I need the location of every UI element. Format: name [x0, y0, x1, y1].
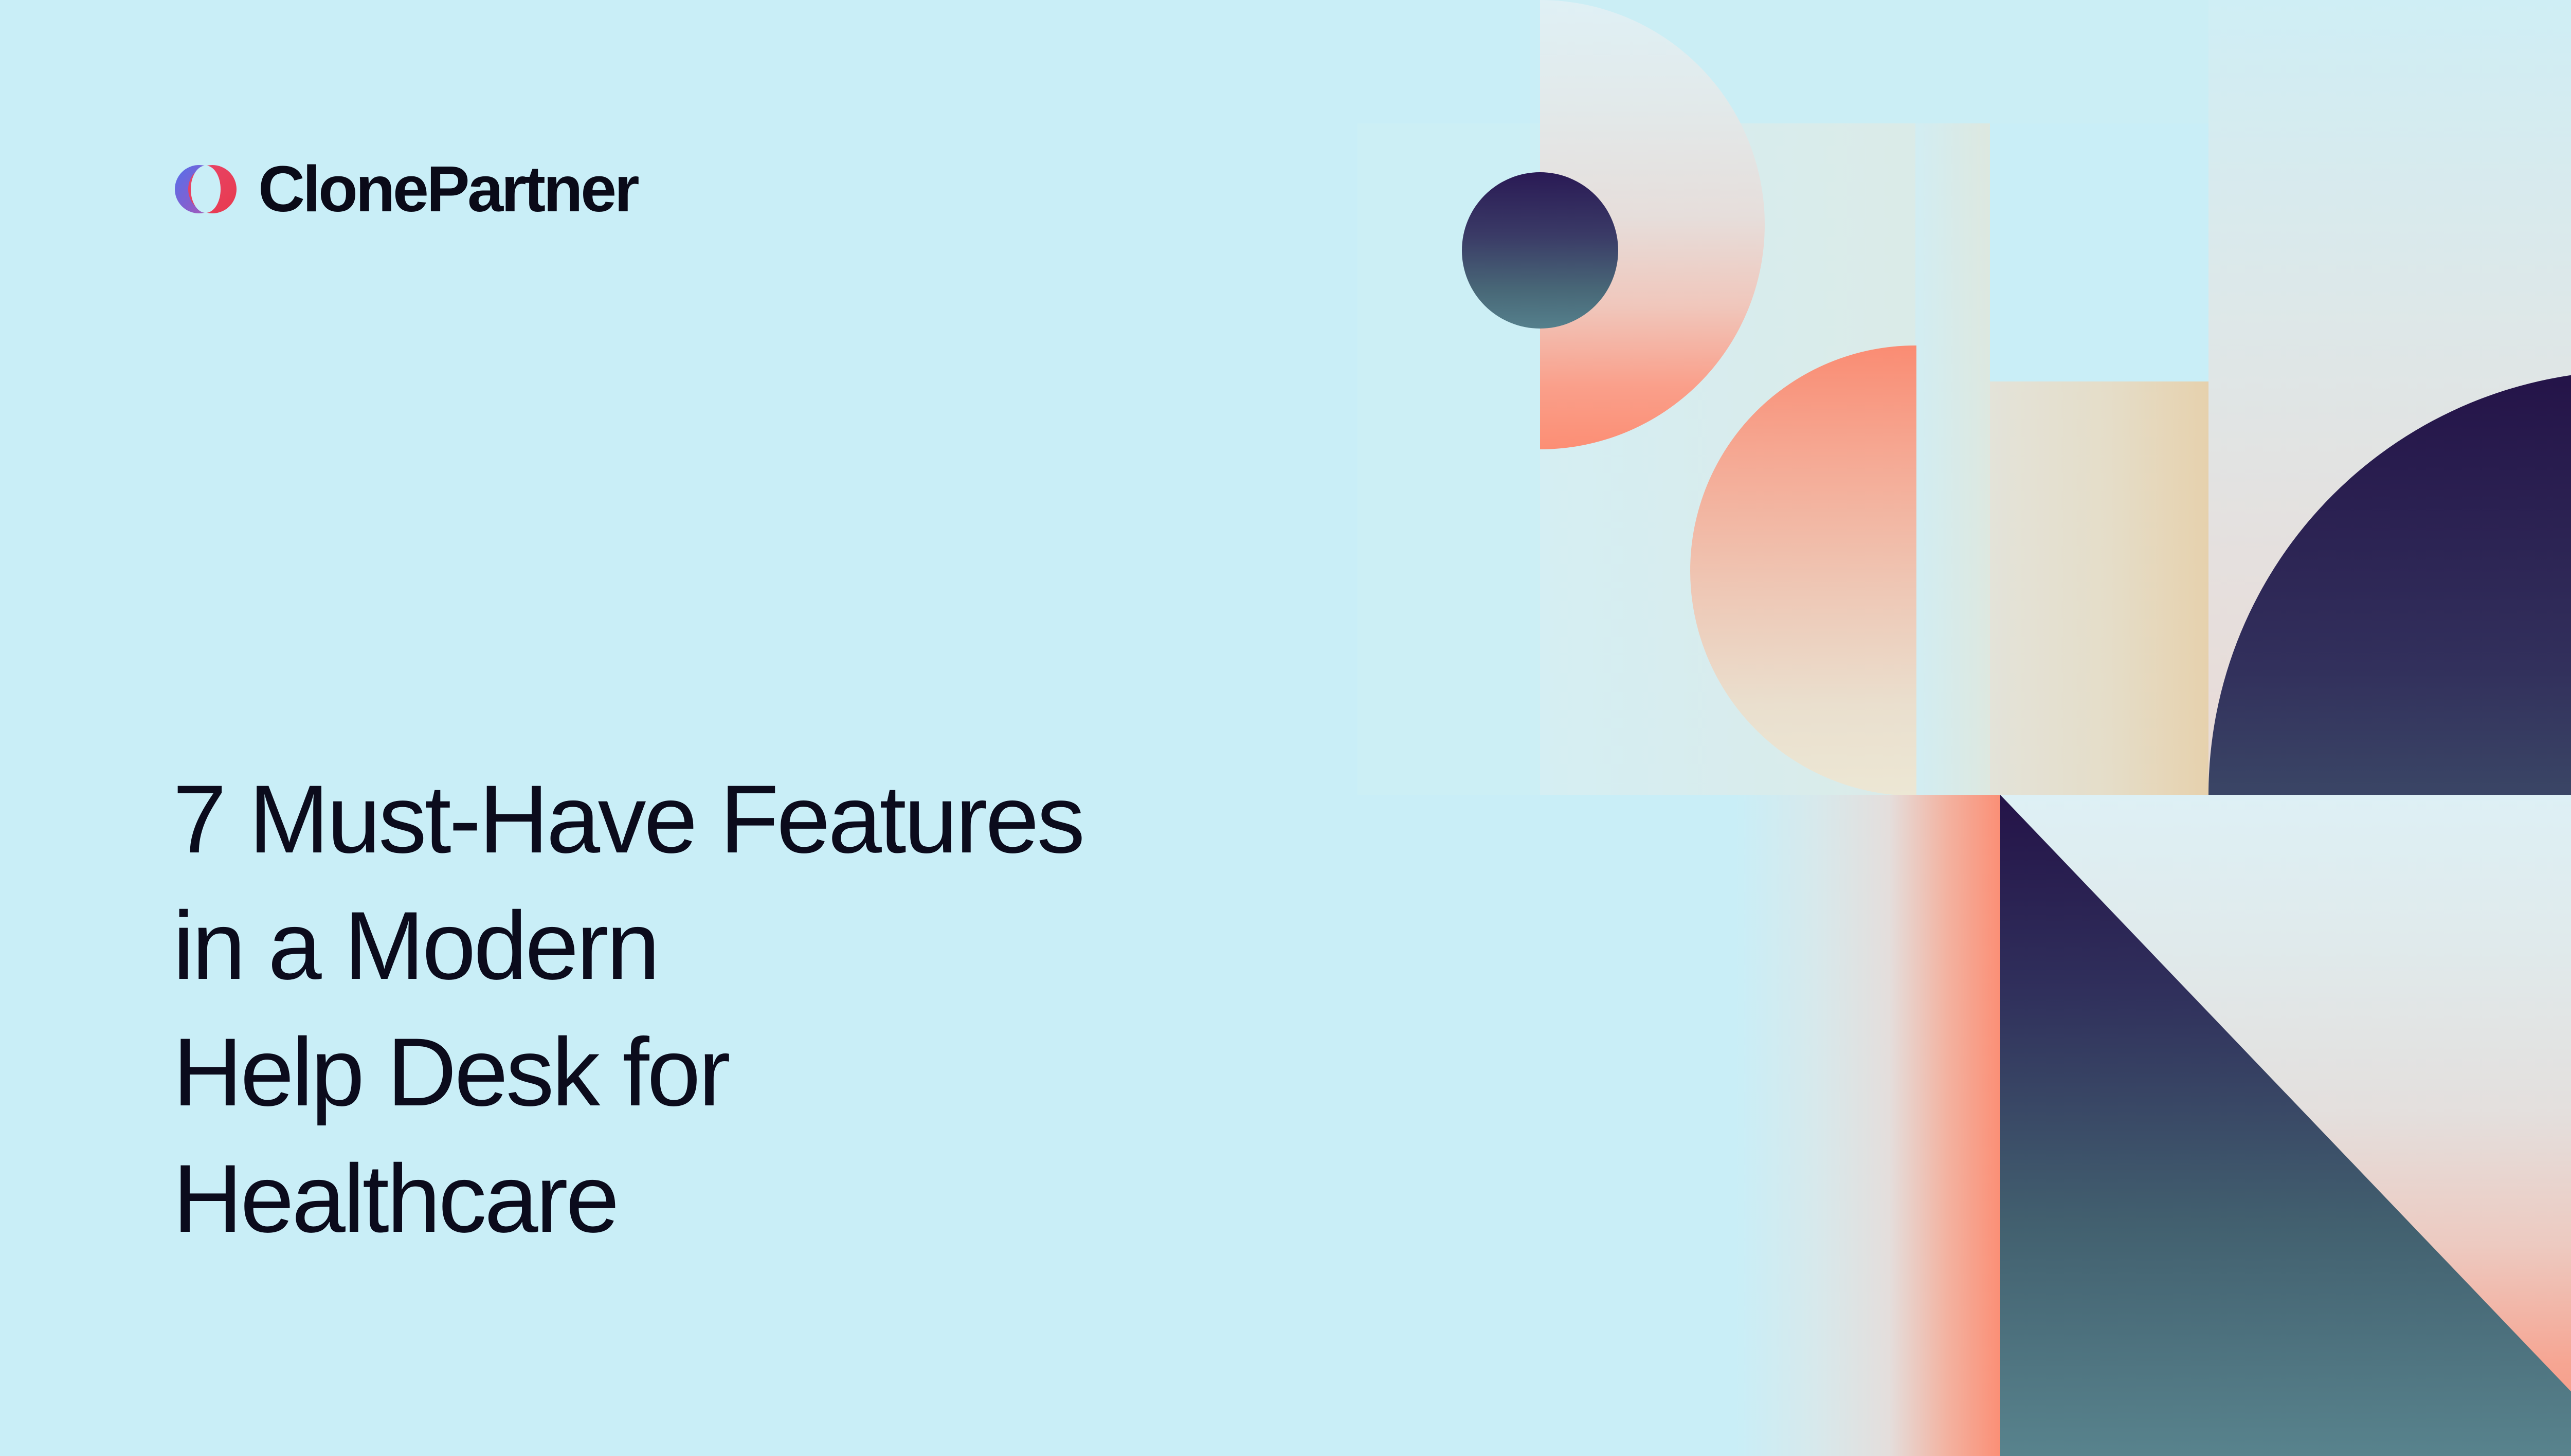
hero-banner: ClonePartner 7 Must-Have Features in a M…	[0, 0, 2571, 1456]
two-overlapping-circles-icon	[171, 154, 241, 224]
headline-line-3: Help Desk for	[173, 1009, 1407, 1135]
beige-panel	[1990, 381, 2208, 795]
page-title: 7 Must-Have Features in a Modern Help De…	[173, 756, 1407, 1262]
headline-line-2: in a Modern	[173, 882, 1407, 1009]
headline-line-4: Healthcare	[173, 1135, 1407, 1262]
bottom-gradient-strip	[1735, 795, 2000, 1456]
headline-line-1: 7 Must-Have Features	[173, 756, 1407, 882]
grid-panel-c	[1915, 123, 1990, 795]
brand-logo-lockup[interactable]: ClonePartner	[171, 154, 637, 224]
brand-wordmark: ClonePartner	[258, 157, 637, 222]
dark-gradient-circle	[1462, 172, 1618, 329]
